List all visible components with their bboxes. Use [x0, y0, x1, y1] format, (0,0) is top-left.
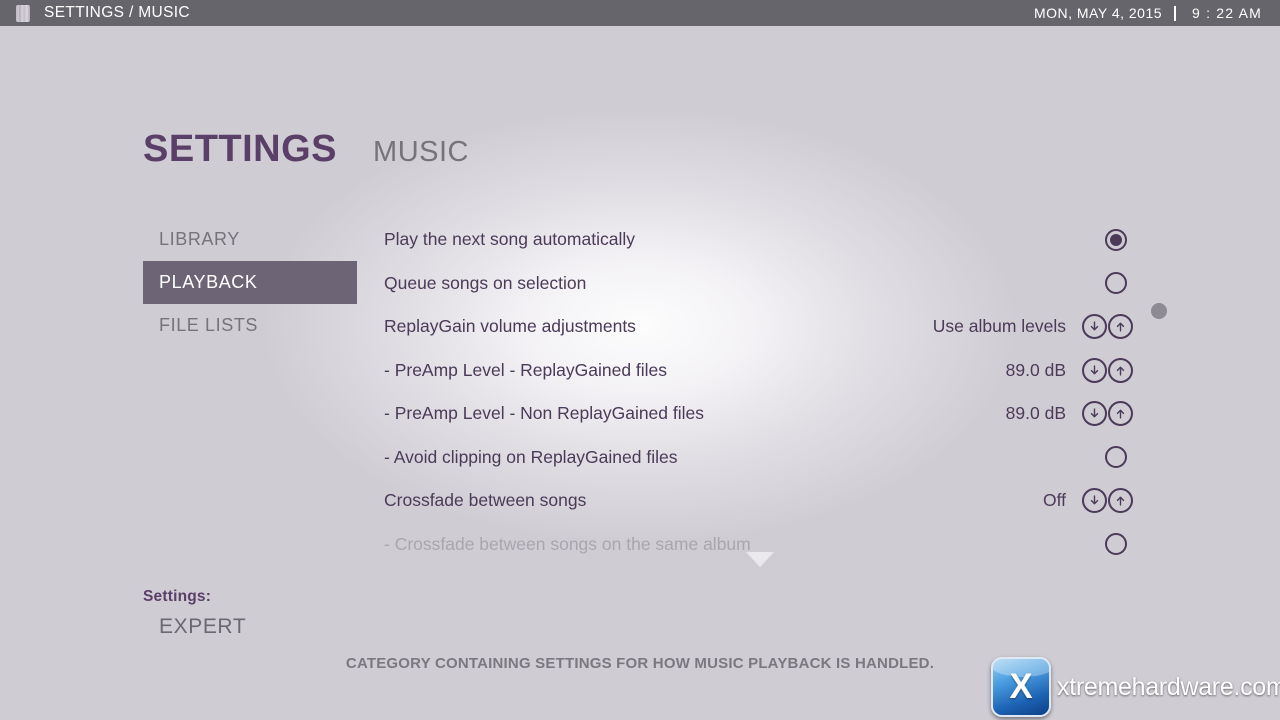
- setting-label: - PreAmp Level - Non ReplayGained files: [384, 403, 704, 424]
- setting-row[interactable]: Crossfade between songs Off: [384, 479, 1144, 523]
- setting-control: Off: [1043, 488, 1144, 513]
- arrow-down-icon[interactable]: [1082, 314, 1107, 339]
- setting-label: - Crossfade between songs on the same al…: [384, 534, 751, 555]
- setting-value: 89.0 dB: [1006, 403, 1066, 424]
- radio-toggle[interactable]: [1105, 272, 1127, 294]
- setting-label: ReplayGain volume adjustments: [384, 316, 636, 337]
- sidebar-item-playback[interactable]: PLAYBACK: [143, 261, 357, 304]
- xtremehardware-logo-icon: X: [991, 657, 1051, 717]
- setting-control: 89.0 dB: [1006, 358, 1144, 383]
- setting-row[interactable]: - PreAmp Level - ReplayGained files 89.0…: [384, 349, 1144, 393]
- radio-toggle[interactable]: [1105, 229, 1127, 251]
- setting-row[interactable]: - PreAmp Level - Non ReplayGained files …: [384, 392, 1144, 436]
- settings-level[interactable]: Settings: EXPERT: [143, 588, 246, 639]
- watermark-text: xtremehardware.com: [1057, 673, 1280, 702]
- page-title-sub: MUSIC: [373, 136, 469, 169]
- setting-control: [1105, 446, 1144, 468]
- arrow-down-icon[interactable]: [1082, 358, 1107, 383]
- arrow-up-icon[interactable]: [1108, 314, 1133, 339]
- sidebar-item-label: LIBRARY: [159, 229, 240, 250]
- spinner: [1082, 488, 1133, 513]
- spinner: [1082, 358, 1133, 383]
- setting-control: [1105, 229, 1144, 251]
- topbar-time: 9 : 22 AM: [1192, 5, 1262, 21]
- top-bar: SETTINGS / MUSIC MON, MAY 4, 2015 9 : 22…: [0, 0, 1280, 26]
- setting-row[interactable]: Play the next song automatically: [384, 218, 1144, 262]
- breadcrumb: SETTINGS / MUSIC: [44, 4, 190, 22]
- setting-row[interactable]: - Avoid clipping on ReplayGained files: [384, 436, 1144, 480]
- chevron-down-icon[interactable]: [746, 552, 774, 567]
- setting-value: Use album levels: [933, 316, 1066, 337]
- setting-row[interactable]: ReplayGain volume adjustments Use album …: [384, 305, 1144, 349]
- spinner: [1082, 314, 1133, 339]
- setting-row[interactable]: Queue songs on selection: [384, 262, 1144, 306]
- setting-value: Off: [1043, 490, 1066, 511]
- topbar-status: MON, MAY 4, 2015 9 : 22 AM: [1034, 5, 1262, 21]
- sidebar-item-label: FILE LISTS: [159, 315, 258, 336]
- settings-level-value: EXPERT: [159, 615, 246, 639]
- arrow-up-icon[interactable]: [1108, 401, 1133, 426]
- topbar-date: MON, MAY 4, 2015: [1034, 5, 1162, 21]
- setting-control: 89.0 dB: [1006, 401, 1144, 426]
- setting-label: - Avoid clipping on ReplayGained files: [384, 447, 677, 468]
- setting-label: Play the next song automatically: [384, 229, 635, 250]
- settings-level-label: Settings:: [143, 588, 246, 606]
- setting-label: Queue songs on selection: [384, 273, 586, 294]
- arrow-down-icon[interactable]: [1082, 401, 1107, 426]
- setting-control: [1105, 533, 1144, 555]
- sidebar-item-label: PLAYBACK: [159, 272, 258, 293]
- setting-control: [1105, 272, 1144, 294]
- watermark: X xtremehardware.com: [991, 657, 1280, 717]
- radio-toggle[interactable]: [1105, 533, 1127, 555]
- media-cylinder-icon: [14, 4, 32, 23]
- arrow-up-icon[interactable]: [1108, 488, 1133, 513]
- settings-list: Play the next song automatically Queue s…: [384, 218, 1144, 566]
- setting-label: - PreAmp Level - ReplayGained files: [384, 360, 667, 381]
- sidebar-item-file-lists[interactable]: FILE LISTS: [143, 304, 357, 347]
- topbar-divider: [1174, 6, 1176, 21]
- category-list: LIBRARY PLAYBACK FILE LISTS: [143, 218, 357, 347]
- setting-value: 89.0 dB: [1006, 360, 1066, 381]
- arrow-down-icon[interactable]: [1082, 488, 1107, 513]
- watermark-mark: X: [993, 659, 1049, 715]
- sidebar-item-library[interactable]: LIBRARY: [143, 218, 357, 261]
- page-title-main: SETTINGS: [143, 128, 337, 171]
- page-title: SETTINGS MUSIC: [143, 128, 469, 171]
- spinner: [1082, 401, 1133, 426]
- arrow-up-icon[interactable]: [1108, 358, 1133, 383]
- scrollbar-thumb[interactable]: [1151, 303, 1167, 319]
- setting-label: Crossfade between songs: [384, 490, 586, 511]
- radio-toggle[interactable]: [1105, 446, 1127, 468]
- setting-control: Use album levels: [933, 314, 1144, 339]
